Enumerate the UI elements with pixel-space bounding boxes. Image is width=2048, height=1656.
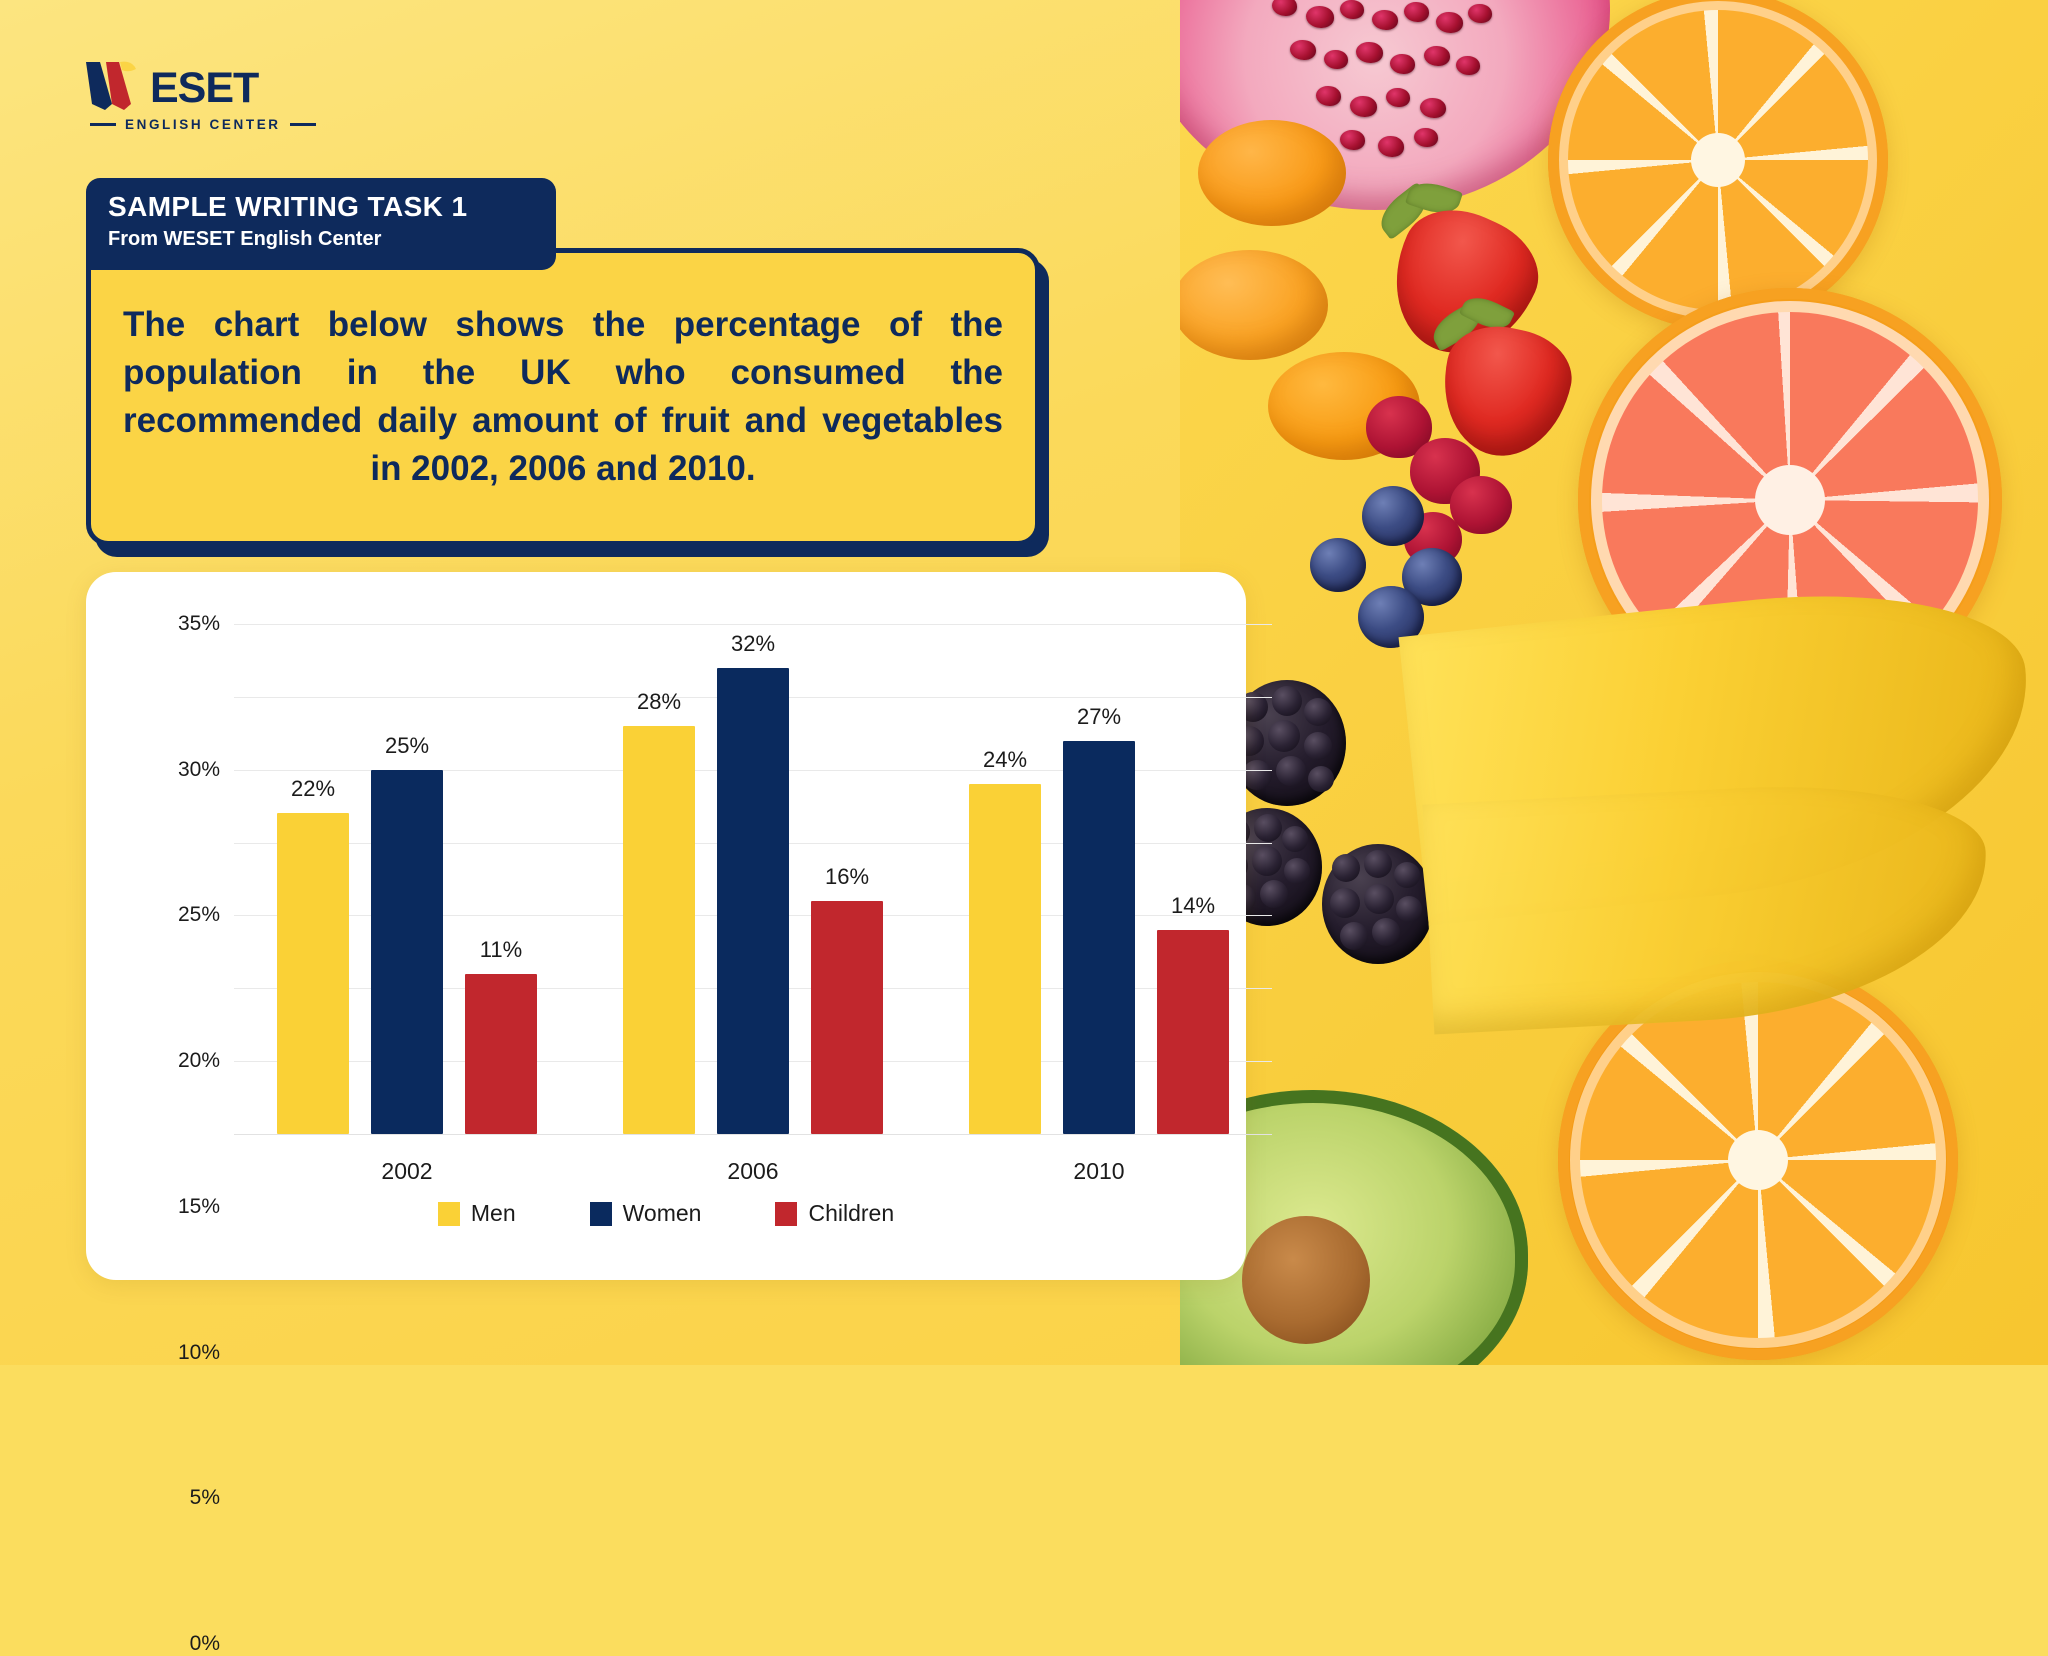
- chart-legend: MenWomenChildren: [86, 1200, 1246, 1227]
- chart-bar[interactable]: [717, 668, 789, 1134]
- kumquat-icon: [1180, 250, 1328, 360]
- chart-bar-value-label: 27%: [1077, 704, 1121, 730]
- chart-bar-groups: 22%25%11%200228%32%16%200624%27%14%2010: [234, 624, 1272, 1134]
- weset-logo: ESET ENGLISH CENTER: [86, 58, 336, 140]
- chart-group: 28%32%16%2006: [580, 624, 926, 1134]
- chart-legend-item[interactable]: Children: [775, 1200, 894, 1227]
- chart-legend-item[interactable]: Men: [438, 1200, 516, 1227]
- chart-bar-value-label: 32%: [731, 631, 775, 657]
- fruit-photo: [1180, 0, 2048, 1365]
- logo-subtitle: ENGLISH CENTER: [86, 117, 336, 132]
- chart-card: 35%30%25%20%15%10%5%0% 22%25%11%200228%3…: [86, 572, 1246, 1280]
- chart-bar[interactable]: [969, 784, 1041, 1134]
- blueberry-icon: [1310, 538, 1366, 592]
- chart-gridline: 0%: [234, 1134, 1272, 1135]
- chart-legend-label: Women: [623, 1200, 702, 1227]
- chart-group: 24%27%14%2010: [926, 624, 1272, 1134]
- orange-slice-icon: [1548, 0, 1888, 330]
- chart-bar[interactable]: [465, 974, 537, 1134]
- chart-x-axis-label: 2006: [727, 1158, 778, 1185]
- chart-bar-value-label: 16%: [825, 864, 869, 890]
- raspberry-icon: [1450, 476, 1512, 534]
- chart-bar-wrapper: 25%: [371, 770, 443, 1134]
- chart-bar[interactable]: [1063, 741, 1135, 1134]
- chart-bar-value-label: 28%: [637, 689, 681, 715]
- chart-bar-wrapper: 14%: [1157, 930, 1229, 1134]
- chart-bar-wrapper: 16%: [811, 901, 883, 1134]
- logo-word-text: ESET: [150, 66, 258, 110]
- logo-subtitle-text: ENGLISH CENTER: [125, 117, 281, 132]
- chart-y-axis-label: 30%: [178, 758, 220, 782]
- chart-x-axis-label: 2010: [1073, 1158, 1124, 1185]
- chart-y-axis-label: 10%: [178, 1341, 220, 1365]
- chart-bar-wrapper: 24%: [969, 784, 1041, 1134]
- chart-legend-label: Children: [808, 1200, 894, 1227]
- chart-legend-item[interactable]: Women: [590, 1200, 702, 1227]
- chart-bar-wrapper: 11%: [465, 974, 537, 1134]
- logo-dash-left-icon: [90, 123, 116, 126]
- chart-group: 22%25%11%2002: [234, 624, 580, 1134]
- chart-y-axis-label: 5%: [190, 1486, 220, 1510]
- chart-y-axis-label: 20%: [178, 1049, 220, 1073]
- logo-dash-right-icon: [290, 123, 316, 126]
- chart-bar-value-label: 14%: [1171, 893, 1215, 919]
- chart-legend-swatch: [438, 1202, 460, 1226]
- logo-w-mark: [86, 60, 148, 110]
- chart-plot-area: 35%30%25%20%15%10%5%0% 22%25%11%200228%3…: [234, 624, 1272, 1134]
- kumquat-icon: [1198, 120, 1346, 226]
- chart-x-axis-label: 2002: [381, 1158, 432, 1185]
- chart-legend-swatch: [775, 1202, 797, 1226]
- chart-legend-label: Men: [471, 1200, 516, 1227]
- chart-bar-wrapper: 32%: [717, 668, 789, 1134]
- chart-y-axis-label: 35%: [178, 612, 220, 636]
- chart-bar-value-label: 22%: [291, 776, 335, 802]
- chart-bar-value-label: 24%: [983, 747, 1027, 773]
- chart-bar[interactable]: [811, 901, 883, 1134]
- chart-bar-wrapper: 27%: [1063, 741, 1135, 1134]
- logo-wordmark: ESET: [86, 58, 336, 110]
- blueberry-icon: [1362, 486, 1424, 546]
- chart-bar-value-label: 25%: [385, 733, 429, 759]
- logo-w-icon: [86, 60, 148, 110]
- chart-bar[interactable]: [623, 726, 695, 1134]
- prompt-text: The chart below shows the percentage of …: [91, 301, 1035, 493]
- chart-bar[interactable]: [371, 770, 443, 1134]
- chart-bar[interactable]: [277, 813, 349, 1134]
- task-tab: SAMPLE WRITING TASK 1 From WESET English…: [86, 178, 556, 270]
- task-tab-title: SAMPLE WRITING TASK 1: [108, 190, 556, 224]
- chart-bar-wrapper: 22%: [277, 813, 349, 1134]
- chart-y-axis-label: 0%: [190, 1632, 220, 1656]
- banana-icon: [1422, 776, 1993, 1035]
- chart-bar-wrapper: 28%: [623, 726, 695, 1134]
- chart-legend-swatch: [590, 1202, 612, 1226]
- prompt-box: The chart below shows the percentage of …: [86, 248, 1040, 546]
- chart-bar[interactable]: [1157, 930, 1229, 1134]
- chart-y-axis-label: 25%: [178, 903, 220, 927]
- chart-bar-value-label: 11%: [480, 937, 522, 963]
- task-tab-subtitle: From WESET English Center: [108, 225, 556, 253]
